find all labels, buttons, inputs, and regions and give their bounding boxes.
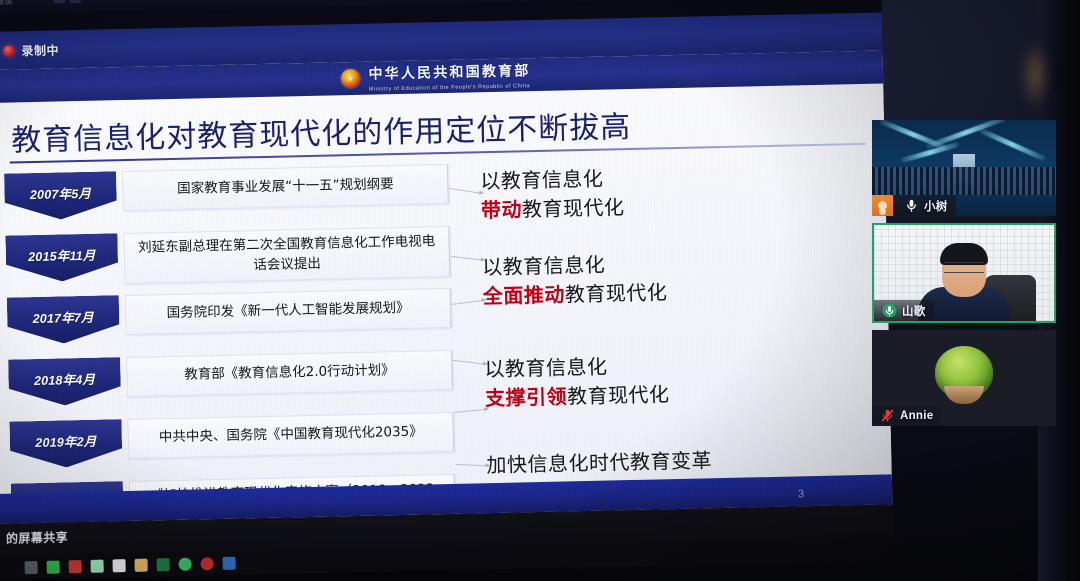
mic-on-icon[interactable] <box>904 198 919 213</box>
presentation-slide: 中华人民共和国教育部 Ministry of Education of the … <box>0 50 892 523</box>
taskbar-media-icon[interactable] <box>200 557 213 570</box>
titlebar-controls[interactable] <box>53 0 81 3</box>
window-control-dot[interactable] <box>69 0 81 3</box>
participant-tile[interactable]: 小树 <box>872 120 1056 216</box>
conclusion-item: 以教育信息化 带动教育现代化 <box>480 159 872 243</box>
shared-screen: 会议 录制中 中华人民共和国教育部 Mi <box>0 0 894 580</box>
timeline-row: 2015年11月 刘延东副总理在第二次全国教育信息化工作电视电话会议提出 <box>5 226 450 293</box>
participant-label: 小树 <box>872 195 956 216</box>
conclusion-highlight: 全面推动 <box>483 282 566 308</box>
recording-dot-icon <box>3 45 14 56</box>
timeline-text: 刘延东副总理在第二次全国教育信息化工作电视电话会议提出 <box>123 226 450 284</box>
ministry-name-cn: 中华人民共和国教育部 <box>368 60 530 84</box>
timeline-date-badge: 2018年4月 <box>8 357 121 406</box>
window-title: 会议 <box>0 0 13 6</box>
timeline-date-badge: 2017年7月 <box>7 295 120 344</box>
slide-page-number: 3 <box>798 488 804 500</box>
taskbar-qq-icon[interactable] <box>90 559 103 572</box>
recording-label: 录制中 <box>21 41 59 59</box>
timeline-date-badge: 2015年11月 <box>5 233 118 282</box>
taskbar-browser-icon[interactable] <box>68 560 81 573</box>
conclusion-highlight: 带动 <box>481 197 523 222</box>
timeline-date-badge: 2007年5月 <box>4 171 117 220</box>
conclusion-tail: 教育现代化 <box>567 382 670 408</box>
national-emblem-icon <box>340 69 359 88</box>
participant-name: 小树 <box>924 198 948 214</box>
taskbar-notes-icon[interactable] <box>112 559 125 572</box>
conclusion-item: 加快信息化时代教育变革 <box>486 443 877 481</box>
timeline-date-label: 2007年5月 <box>30 182 92 202</box>
connector-arrow <box>455 464 489 467</box>
recording-badge: 录制中 <box>3 41 59 59</box>
timeline-row: 2019年2月 中共中央、国务院《中国教育现代化2035》 <box>9 412 454 479</box>
timeline-date-label: 2015年11月 <box>28 244 96 264</box>
connector-arrow <box>454 409 488 413</box>
timeline-row: 2007年5月 国家教育事业发展“十一五”规划纲要 <box>4 164 449 231</box>
timeline-date-label: 2019年2月 <box>35 430 97 450</box>
window-control-dot[interactable] <box>53 0 65 3</box>
timeline-text: 国家教育事业发展“十一五”规划纲要 <box>122 164 449 211</box>
timeline-row: 2017年7月 国务院印发《新一代人工智能发展规划》 <box>7 288 452 355</box>
meeting-window: 会议 录制中 中华人民共和国教育部 Mi <box>0 0 894 580</box>
participant-name: 山歌 <box>902 303 926 319</box>
mic-on-icon[interactable] <box>882 303 897 318</box>
mic-off-icon[interactable] <box>880 408 895 423</box>
participant-tile-active[interactable]: 山歌 <box>872 223 1056 323</box>
taskbar-app-icon[interactable] <box>222 556 235 569</box>
conclusion-line-1: 加快信息化时代教育变革 <box>486 443 877 481</box>
taskbar-wechat-icon[interactable] <box>46 560 59 573</box>
conclusion-item: 以教育信息化 支撑引领教育现代化 <box>484 347 876 441</box>
timeline-text: 教育部《教育信息化2.0行动计划》 <box>126 350 453 397</box>
conclusion-highlight: 支撑引领 <box>485 384 568 410</box>
conclusion-tail: 教育现代化 <box>565 280 668 306</box>
timeline-text: 国务院印发《新一代人工智能发展规划》 <box>125 288 452 335</box>
connector-arrow <box>452 300 486 305</box>
conclusion-tail: 教育现代化 <box>522 195 625 221</box>
timeline-row: 2018年4月 教育部《教育信息化2.0行动计划》 <box>8 350 453 417</box>
connector-arrow <box>449 188 483 194</box>
timeline-list: 2007年5月 国家教育事业发展“十一五”规划纲要 2015年11月 刘延东副总… <box>4 164 456 524</box>
timeline-date-label: 2018年4月 <box>34 368 96 388</box>
connector-arrow <box>451 256 485 261</box>
timeline-date-badge: 2019年2月 <box>9 419 122 468</box>
conclusion-list: 以教育信息化 带动教育现代化 以教育信息化 全面推动教育现代化 以教育信息化 <box>480 159 877 490</box>
ministry-name-en: Ministry of Education of the People's Re… <box>369 83 530 93</box>
participant-video-rail: 小树 山歌 <box>872 120 1056 433</box>
ministry-title-block: 中华人民共和国教育部 Ministry of Education of the … <box>368 60 531 93</box>
screenshot-root: 会议 录制中 中华人民共和国教育部 Mi <box>0 0 1080 581</box>
timeline-text: 中共中央、国务院《中国教育现代化2035》 <box>127 412 454 459</box>
wall-light-glow <box>1020 40 1050 110</box>
taskbar-explorer-icon[interactable] <box>25 561 38 574</box>
taskbar-excel-icon[interactable] <box>156 558 169 571</box>
participant-name: Annie <box>900 410 933 422</box>
participant-label: Annie <box>872 405 941 426</box>
timeline-date-label: 2017年7月 <box>32 306 94 326</box>
participant-label: 山歌 <box>874 300 934 321</box>
user-avatar-icon <box>872 195 893 216</box>
taskbar-meeting-icon[interactable] <box>178 557 191 570</box>
taskbar-folder-icon[interactable] <box>134 558 147 571</box>
conclusion-item: 以教育信息化 全面推动教育现代化 <box>482 245 874 345</box>
participant-tile[interactable]: Annie <box>872 330 1056 426</box>
share-status-label: 的屏幕共享 <box>6 528 68 546</box>
connector-arrow <box>453 360 487 365</box>
